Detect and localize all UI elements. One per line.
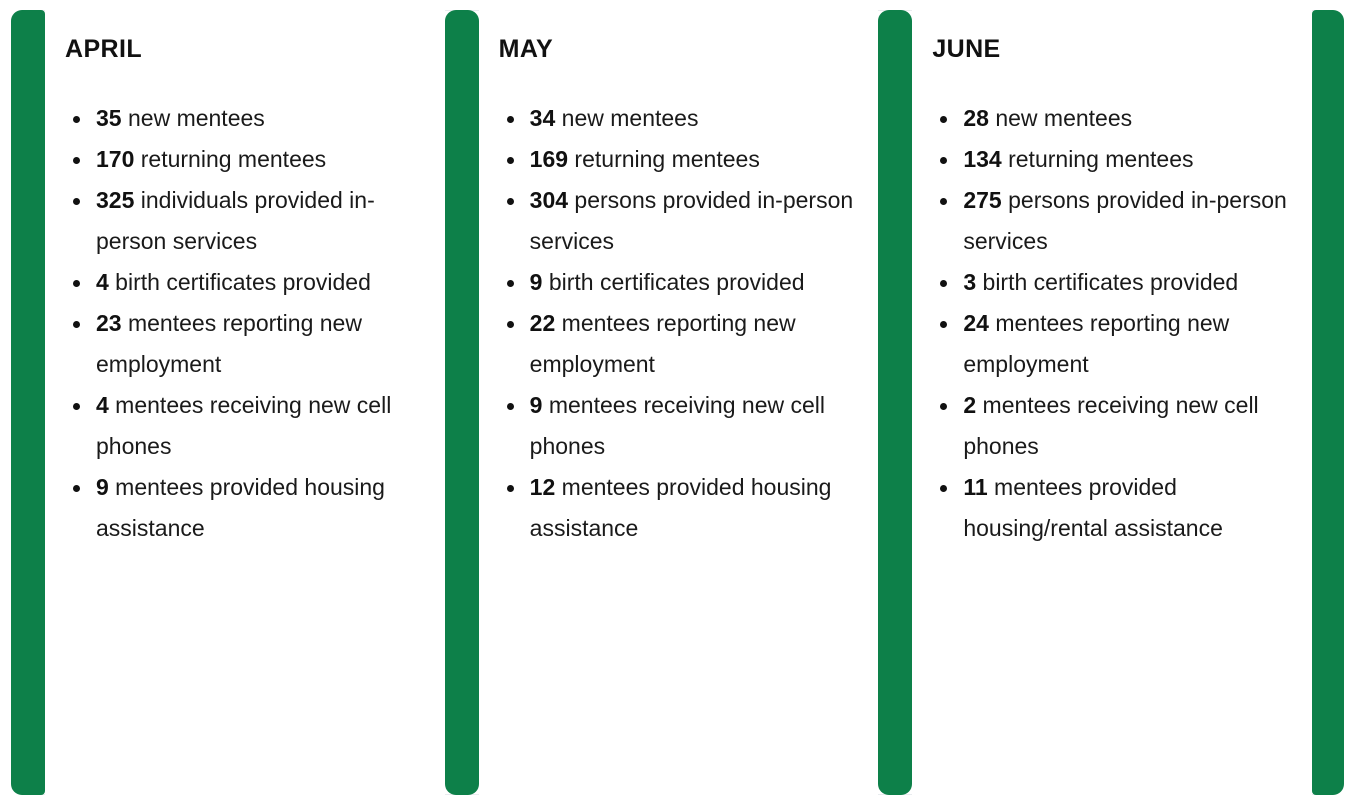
stat-label: persons provided in-person services [530, 187, 853, 254]
stat-value: 134 [963, 146, 1001, 172]
stat-label: returning mentees [568, 146, 760, 172]
stat-value: 170 [96, 146, 134, 172]
list-item: 325 individuals provided in-person servi… [65, 180, 433, 262]
stat-value: 11 [963, 474, 987, 500]
stat-label: birth certificates provided [976, 269, 1238, 295]
stat-value: 9 [530, 392, 543, 418]
list-item: 3 birth certificates provided [932, 262, 1300, 303]
stat-value: 28 [963, 105, 989, 131]
list-item: 22 mentees reporting new employment [499, 303, 867, 385]
month-card-june: JUNE 28 new mentees 134 returning mentee… [878, 10, 1312, 795]
stat-value: 24 [963, 310, 989, 336]
stat-label: mentees reporting new employment [96, 310, 362, 377]
accent-bar-april [11, 10, 45, 795]
list-item: 11 mentees provided housing/rental assis… [932, 467, 1300, 549]
stat-label: mentees provided housing assistance [530, 474, 832, 541]
accent-bar-right-edge [1312, 10, 1344, 795]
list-item: 12 mentees provided housing assistance [499, 467, 867, 549]
stat-label: new mentees [989, 105, 1132, 131]
month-title-june: JUNE [932, 36, 1300, 64]
list-item: 275 persons provided in-person services [932, 180, 1300, 262]
stat-label: birth certificates provided [109, 269, 371, 295]
stat-value: 9 [96, 474, 109, 500]
stat-value: 304 [530, 187, 568, 213]
stat-label: returning mentees [134, 146, 326, 172]
list-item: 170 returning mentees [65, 139, 433, 180]
stat-label: returning mentees [1002, 146, 1194, 172]
stat-value: 4 [96, 269, 109, 295]
stat-value: 275 [963, 187, 1001, 213]
month-card-april: APRIL 35 new mentees 170 returning mente… [11, 10, 445, 795]
month-card-may: MAY 34 new mentees 169 returning mentees… [445, 10, 879, 795]
stat-label: mentees reporting new employment [963, 310, 1229, 377]
month-card-body-may: MAY 34 new mentees 169 returning mentees… [479, 10, 879, 795]
stat-label: birth certificates provided [542, 269, 804, 295]
month-columns: APRIL 35 new mentees 170 returning mente… [11, 10, 1344, 795]
list-item: 169 returning mentees [499, 139, 867, 180]
month-title-april: APRIL [65, 36, 433, 64]
stat-value: 35 [96, 105, 122, 131]
month-card-body-june: JUNE 28 new mentees 134 returning mentee… [912, 10, 1312, 795]
stat-label: mentees provided housing assistance [96, 474, 385, 541]
stat-value: 23 [96, 310, 122, 336]
stat-label: new mentees [555, 105, 698, 131]
list-item: 4 mentees receiving new cell phones [65, 385, 433, 467]
stat-value: 2 [963, 392, 976, 418]
stat-label: mentees provided housing/rental assistan… [963, 474, 1223, 541]
list-item: 9 mentees provided housing assistance [65, 467, 433, 549]
stat-value: 4 [96, 392, 109, 418]
stat-label: mentees reporting new employment [530, 310, 796, 377]
accent-bar-may [445, 10, 479, 795]
list-item: 2 mentees receiving new cell phones [932, 385, 1300, 467]
stat-value: 34 [530, 105, 556, 131]
stat-value: 9 [530, 269, 543, 295]
month-title-may: MAY [499, 36, 867, 64]
stat-label: new mentees [122, 105, 265, 131]
stat-value: 325 [96, 187, 134, 213]
list-item: 4 birth certificates provided [65, 262, 433, 303]
stat-value: 3 [963, 269, 976, 295]
accent-bar-june [878, 10, 912, 795]
stat-value: 12 [530, 474, 556, 500]
list-item: 28 new mentees [932, 98, 1300, 139]
stat-label: mentees receiving new cell phones [96, 392, 391, 459]
month-card-body-april: APRIL 35 new mentees 170 returning mente… [45, 10, 445, 795]
stat-list-june: 28 new mentees 134 returning mentees 275… [932, 98, 1300, 549]
list-item: 34 new mentees [499, 98, 867, 139]
stat-label: individuals provided in-person services [96, 187, 375, 254]
stat-list-may: 34 new mentees 169 returning mentees 304… [499, 98, 867, 549]
stat-label: mentees receiving new cell phones [530, 392, 825, 459]
list-item: 134 returning mentees [932, 139, 1300, 180]
list-item: 9 mentees receiving new cell phones [499, 385, 867, 467]
stat-label: mentees receiving new cell phones [963, 392, 1258, 459]
list-item: 35 new mentees [65, 98, 433, 139]
list-item: 24 mentees reporting new employment [932, 303, 1300, 385]
stat-list-april: 35 new mentees 170 returning mentees 325… [65, 98, 433, 549]
stat-value: 22 [530, 310, 556, 336]
stat-value: 169 [530, 146, 568, 172]
list-item: 23 mentees reporting new employment [65, 303, 433, 385]
list-item: 304 persons provided in-person services [499, 180, 867, 262]
stat-label: persons provided in-person services [963, 187, 1286, 254]
list-item: 9 birth certificates provided [499, 262, 867, 303]
monthly-stats-board: APRIL 35 new mentees 170 returning mente… [0, 0, 1354, 812]
